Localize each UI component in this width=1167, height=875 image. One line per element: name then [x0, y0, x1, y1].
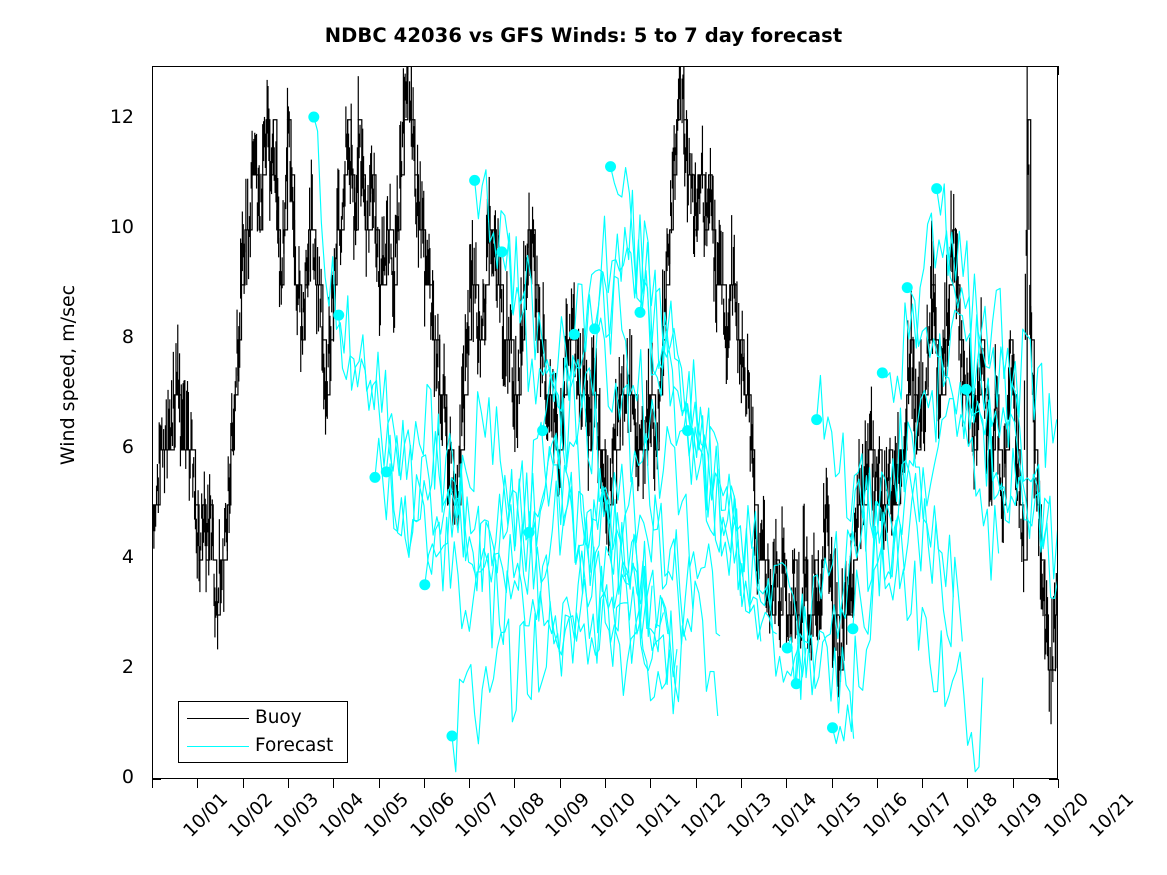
x-axis-tick [877, 779, 878, 788]
x-axis-tick [333, 779, 334, 788]
forecast-marker-dot [605, 161, 616, 172]
forecast-marker-dot [523, 527, 534, 538]
x-axis-tick [650, 779, 651, 788]
forecast-marker-dot [537, 425, 548, 436]
y-axis-tick [152, 779, 161, 780]
chart-title: NDBC 42036 vs GFS Winds: 5 to 7 day fore… [0, 24, 1167, 47]
x-axis-tick [967, 779, 968, 788]
x-axis-tick [741, 779, 742, 788]
x-axis-tick [288, 779, 289, 788]
x-axis-tick-label: 10/04 [316, 789, 369, 842]
forecast-marker-dot [961, 384, 972, 395]
legend-label-buoy: Buoy [255, 705, 302, 731]
x-axis-tick-label: 10/08 [497, 789, 550, 842]
forecast-marker-dot [902, 282, 913, 293]
forecast-marker-dot [589, 323, 600, 334]
forecast-marker-dot [333, 310, 344, 321]
x-axis-tick-label: 10/13 [723, 789, 776, 842]
y-axis-tick-label: 2 [88, 656, 134, 678]
x-axis-tick [514, 779, 515, 788]
x-axis-tick-label: 10/05 [361, 789, 414, 842]
x-axis-tick [1058, 779, 1059, 788]
x-axis-tick-label: 10/11 [633, 789, 686, 842]
legend-item-buoy: Buoy [179, 705, 349, 731]
x-axis-tick-label: 10/03 [270, 789, 323, 842]
forecast-marker-dot [381, 466, 392, 477]
x-axis-tick-label: 10/09 [542, 789, 595, 842]
x-axis-tick [1013, 779, 1014, 788]
x-axis-tick-label: 10/17 [904, 789, 957, 842]
x-axis-tick [152, 779, 153, 788]
x-axis-tick-label: 10/21 [1086, 789, 1139, 842]
x-axis-tick-label: 10/18 [950, 789, 1003, 842]
x-axis-tick [424, 779, 425, 788]
y-axis-tick-label: 10 [88, 216, 134, 238]
legend-label-forecast: Forecast [255, 733, 333, 759]
x-axis-tick [922, 779, 923, 788]
legend-swatch-buoy [187, 718, 249, 719]
figure: NDBC 42036 vs GFS Winds: 5 to 7 day fore… [0, 0, 1167, 875]
forecast-marker-dot [847, 623, 858, 634]
forecast-marker-dot [827, 722, 838, 733]
forecast-marker-dot [877, 367, 888, 378]
series-forecast [314, 117, 1058, 772]
forecast-marker-dot [419, 579, 430, 590]
y-axis-tick-label: 8 [88, 326, 134, 348]
y-axis-tick [1049, 779, 1058, 780]
x-axis-tick [469, 779, 470, 788]
x-axis-tick-label: 10/16 [859, 789, 912, 842]
forecast-marker-dot [682, 425, 693, 436]
y-axis-tick-label: 12 [88, 106, 134, 128]
y-axis-label: Wind speed, m/sec [57, 55, 79, 695]
forecast-marker-dot [791, 678, 802, 689]
forecast-marker-dot [496, 246, 507, 257]
x-axis-tick [560, 779, 561, 788]
x-axis-tick-label: 10/06 [406, 789, 459, 842]
x-axis-tick-label: 10/19 [995, 789, 1048, 842]
x-axis-tick-label: 10/12 [678, 789, 731, 842]
x-axis-tick-label: 10/14 [769, 789, 822, 842]
forecast-marker-dot [782, 642, 793, 653]
x-axis-tick-label: 10/01 [180, 789, 233, 842]
forecast-marker-dot [469, 175, 480, 186]
y-axis-tick-label: 4 [88, 546, 134, 568]
x-axis-tick [696, 779, 697, 788]
x-axis-tick [1058, 66, 1059, 75]
forecast-marker-dot [811, 414, 822, 425]
x-axis-tick [786, 779, 787, 788]
x-axis-tick-label: 10/02 [225, 789, 278, 842]
x-axis-tick-label: 10/20 [1040, 789, 1093, 842]
x-axis-tick [197, 779, 198, 788]
x-axis-tick [832, 779, 833, 788]
forecast-marker-dot [308, 112, 319, 123]
forecast-marker-dot [446, 730, 457, 741]
legend: Buoy Forecast [178, 701, 348, 763]
x-axis-tick-label: 10/15 [814, 789, 867, 842]
y-axis-tick-label: 6 [88, 436, 134, 458]
forecast-marker-dot [634, 307, 645, 318]
plot-area[interactable] [152, 66, 1058, 779]
forecast-marker-dot [569, 329, 580, 340]
legend-item-forecast: Forecast [179, 733, 349, 759]
forecast-marker-dot [369, 472, 380, 483]
x-axis-tick-label: 10/07 [451, 789, 504, 842]
x-axis-tick-label: 10/10 [587, 789, 640, 842]
x-axis-tick [379, 779, 380, 788]
legend-swatch-forecast [187, 746, 249, 747]
x-axis-tick [605, 779, 606, 788]
forecast-marker-dot [931, 183, 942, 194]
plot-canvas [153, 67, 1058, 779]
x-axis-tick [243, 779, 244, 788]
y-axis-tick-label: 0 [88, 766, 134, 788]
